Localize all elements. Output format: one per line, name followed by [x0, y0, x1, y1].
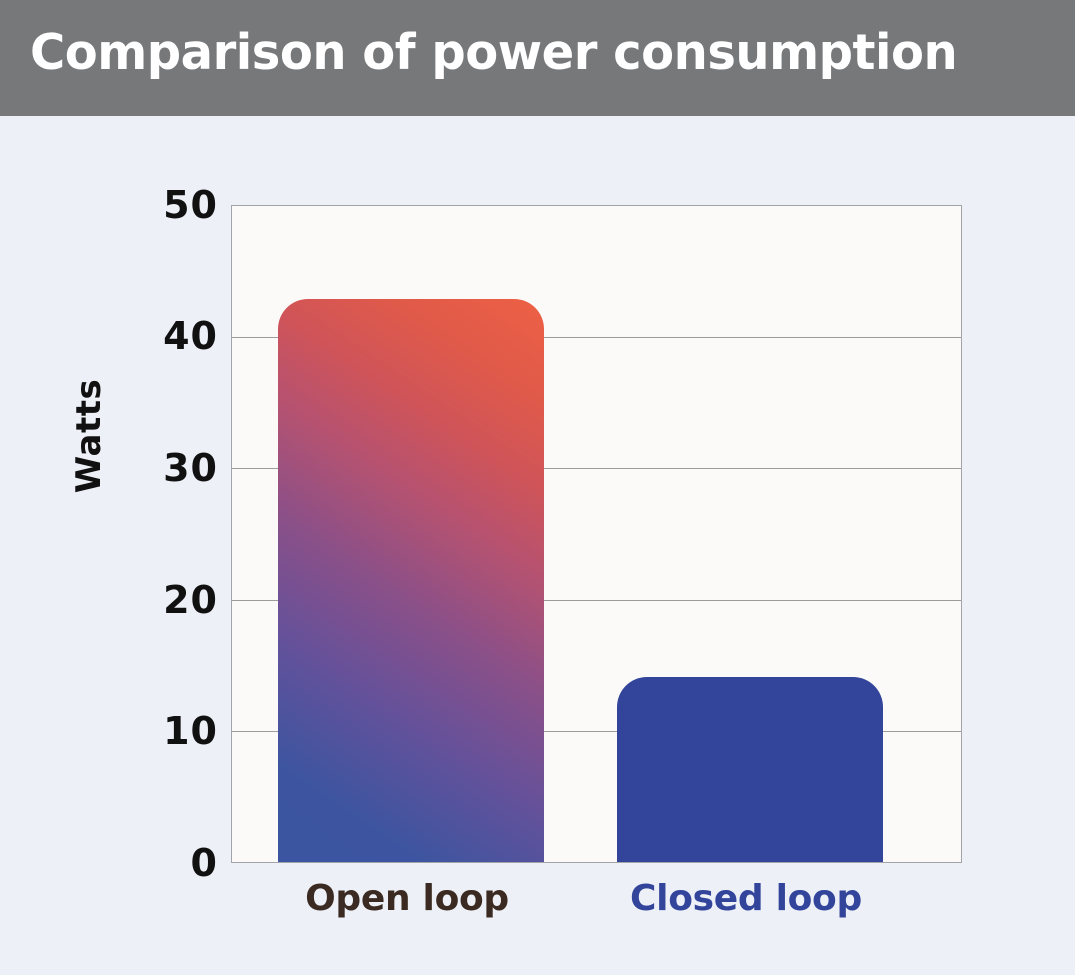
- y-tick-label-0: 0: [110, 844, 218, 882]
- y-tick-label-10: 10: [110, 712, 218, 750]
- bar-closed-loop[interactable]: [617, 677, 883, 862]
- y-tick-label-30: 30: [110, 449, 218, 487]
- plot-area: [231, 205, 962, 863]
- bar-open-loop[interactable]: [278, 299, 544, 862]
- x-tick-label-closed-loop: Closed loop: [586, 878, 906, 919]
- y-axis-title: Watts: [69, 311, 109, 561]
- x-tick-label-open-loop: Open loop: [247, 878, 567, 919]
- y-tick-label-40: 40: [110, 317, 218, 355]
- chart-container: Watts 50 40 30 20 10 0 Open loop Closed …: [0, 116, 1075, 975]
- title-band: Comparison of power consumption: [0, 0, 1075, 116]
- y-tick-label-50: 50: [110, 186, 218, 224]
- y-tick-label-20: 20: [110, 581, 218, 619]
- y-axis-tick-labels: 50 40 30 20 10 0: [110, 116, 218, 975]
- page-title: Comparison of power consumption: [30, 22, 957, 84]
